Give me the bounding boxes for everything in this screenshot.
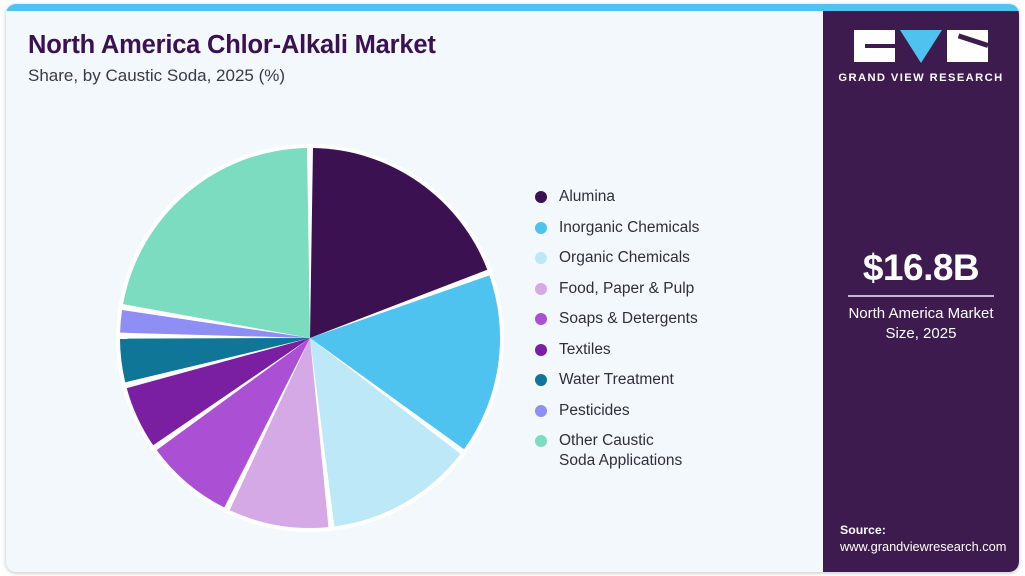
logo-r-icon (947, 30, 988, 62)
legend-item-label: Inorganic Chemicals (559, 218, 699, 238)
legend-color-dot-icon (535, 222, 547, 234)
legend-item[interactable]: Food, Paper & Pulp (535, 279, 805, 299)
legend-item-label: Textiles (559, 340, 611, 360)
legend-item[interactable]: Pesticides (535, 401, 805, 421)
legend-color-dot-icon (535, 191, 547, 203)
market-size-caption: North America Market Size, 2025 (823, 304, 1019, 344)
brand-panel: GRAND VIEW RESEARCH $16.8B North America… (823, 11, 1019, 572)
source-url: www.grandviewresearch.com (840, 539, 1006, 554)
legend-item-label: Water Treatment (559, 370, 674, 390)
legend-item-label: Soaps & Detergents (559, 309, 698, 329)
legend-item-label: Organic Chemicals (559, 248, 690, 268)
logo-g-icon (854, 30, 895, 62)
legend-item[interactable]: Soaps & Detergents (535, 309, 805, 329)
chart-content-pane: North America Chlor-Alkali Market Share,… (6, 11, 823, 572)
legend-item[interactable]: Textiles (535, 340, 805, 360)
legend-item-label: Alumina (559, 187, 615, 207)
brand-logo: GRAND VIEW RESEARCH (823, 29, 1019, 84)
legend-item[interactable]: Water Treatment (535, 370, 805, 390)
pie-chart-svg (110, 138, 510, 538)
legend-item[interactable]: Alumina (535, 187, 805, 207)
logo-v-icon (900, 30, 942, 63)
legend-color-dot-icon (535, 283, 547, 295)
legend-item[interactable]: Inorganic Chemicals (535, 218, 805, 238)
chart-legend: AluminaInorganic ChemicalsOrganic Chemic… (535, 187, 805, 482)
top-accent-bar (6, 4, 1019, 11)
legend-item-label: Pesticides (559, 401, 630, 421)
chart-screenshot: North America Chlor-Alkali Market Share,… (0, 0, 1025, 576)
market-size-callout: $16.8B North America Market Size, 2025 (823, 247, 1019, 344)
legend-item[interactable]: Organic Chemicals (535, 248, 805, 268)
brand-name: GRAND VIEW RESEARCH (823, 72, 1019, 84)
source-block: Source: www.grandviewresearch.com (840, 523, 1006, 554)
legend-item[interactable]: Other Caustic Soda Applications (535, 431, 805, 471)
market-size-value: $16.8B (823, 247, 1019, 289)
legend-color-dot-icon (535, 374, 547, 386)
logo-marks (823, 29, 1019, 63)
legend-color-dot-icon (535, 344, 547, 356)
legend-item-label: Other Caustic Soda Applications (559, 431, 682, 471)
legend-color-dot-icon (535, 252, 547, 264)
page-subtitle: Share, by Caustic Soda, 2025 (%) (28, 66, 285, 86)
page-title: North America Chlor-Alkali Market (28, 31, 436, 60)
legend-color-dot-icon (535, 313, 547, 325)
callout-divider (848, 295, 994, 297)
pie-chart (110, 138, 510, 538)
chart-card: North America Chlor-Alkali Market Share,… (6, 4, 1019, 572)
legend-color-dot-icon (535, 405, 547, 417)
source-label: Source: (840, 523, 1006, 537)
legend-color-dot-icon (535, 435, 547, 447)
legend-item-label: Food, Paper & Pulp (559, 279, 694, 299)
